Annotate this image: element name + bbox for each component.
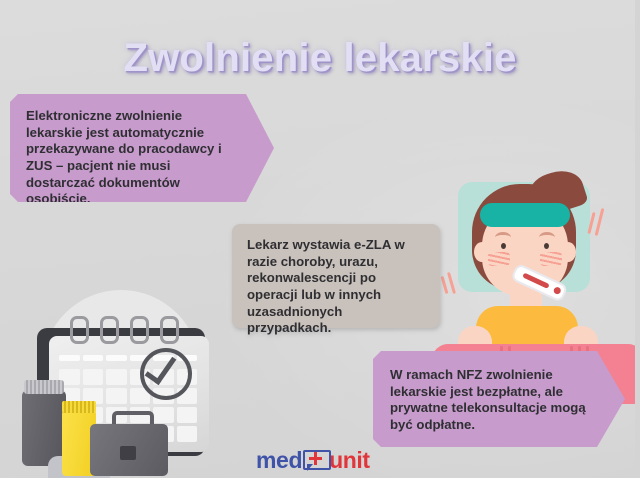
callout-box-2: Lekarz wystawia e-ZLA w razie choroby, u… — [232, 224, 440, 328]
eye-left — [501, 243, 506, 249]
eyebrow-left — [495, 232, 511, 243]
brand-logo[interactable]: med unit — [256, 447, 370, 473]
gray-pill-bottle-cap — [24, 380, 64, 394]
callout-box-1: Elektroniczne zwolnienie lekarskie jest … — [10, 94, 274, 202]
shiver-line-icon — [441, 276, 449, 294]
callout-2-text: Lekarz wystawia e-ZLA w razie choroby, u… — [247, 237, 428, 337]
speech-bubble-medical-cross-icon — [303, 450, 327, 470]
calendar-cell — [153, 407, 174, 423]
calendar-cell — [106, 369, 127, 385]
page-title: Zwolnienie lekarskie — [0, 36, 640, 81]
logo-word-med: med — [256, 447, 302, 474]
eye-right — [544, 243, 549, 249]
cold-compress-icon — [480, 203, 570, 227]
thermometer-mercury — [522, 273, 549, 289]
calendar-ring-icon — [130, 316, 149, 344]
shiver-line-icon — [447, 272, 456, 294]
gray-pill-bottle-icon — [22, 390, 66, 466]
eyebrow-right — [539, 232, 555, 243]
thermometer-bulb — [553, 286, 562, 295]
shiver-line-icon — [595, 208, 605, 236]
calendar-cell — [83, 355, 104, 361]
calendar-cell — [106, 388, 127, 404]
calendar-cell — [177, 426, 198, 442]
plus-vertical — [314, 452, 317, 465]
blush-right — [540, 252, 562, 266]
calendar-ring-icon — [160, 316, 179, 344]
callout-3-text: W ramach NFZ zwolnienie lekarskie jest b… — [390, 367, 589, 434]
right-edge-strip — [635, 0, 640, 478]
calendar-cell — [83, 369, 104, 385]
briefcase-lock — [120, 446, 136, 460]
infographic-canvas: Zwolnienie lekarskie — [0, 0, 640, 478]
calendar-cell — [59, 355, 80, 361]
bubble-tail — [307, 464, 313, 471]
calendar-cell — [177, 407, 198, 423]
blush-left — [488, 252, 510, 266]
callout-box-3: W ramach NFZ zwolnienie lekarskie jest b… — [373, 351, 625, 447]
calendar-cell — [106, 355, 127, 361]
sick-leave-items-illustration — [4, 282, 230, 478]
calendar-ring-icon — [70, 316, 89, 344]
callout-1-text: Elektroniczne zwolnienie lekarskie jest … — [26, 108, 240, 208]
calendar-ring-icon — [100, 316, 119, 344]
yellow-pill-bottle-cap — [62, 401, 96, 413]
logo-word-unit: unit — [329, 447, 370, 474]
